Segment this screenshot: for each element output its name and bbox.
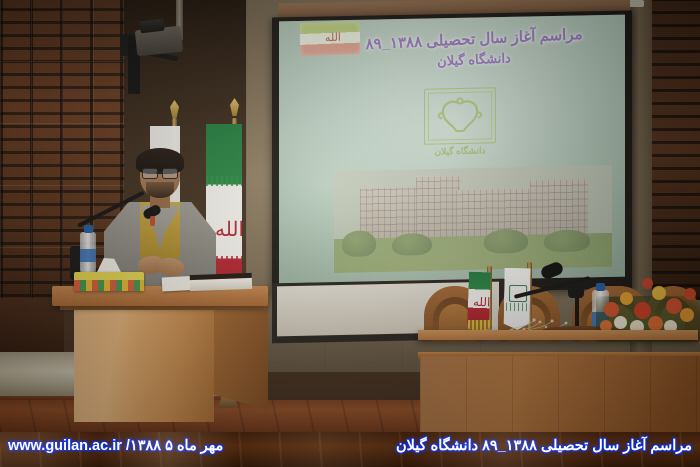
slide-logo-caption: دانشگاه گیلان [410,145,510,158]
photo-color-tint [334,165,612,273]
caption-website-date: www.guilan.ac.ir /۱۳۸۸ مهر ماه ۵ [8,438,223,454]
flower-bloom [684,288,696,300]
tissue-box [74,272,144,291]
microphone-windscreen-accent [150,216,155,226]
wood-slat-panel-lower [0,298,64,360]
lectern-body [74,304,214,422]
flower-bloom [652,286,666,300]
bottle-label [80,249,96,262]
flower-bloom [634,302,651,319]
iran-desk-flag-emblem-icon: الله [473,296,485,308]
speaker-eyeglasses [142,168,178,177]
iran-flag-emblem-icon: الله [325,33,334,42]
lectern-water-bottle [80,232,96,274]
flower-bloom [680,308,694,322]
bottle-cap [84,225,93,233]
slide-campus-photo [334,165,612,273]
flower-bloom [604,302,619,317]
flower-bloom [642,278,653,289]
table-front-panel [420,356,700,432]
photograph-canvas: الله مراسم آغاز سال تحصیلی ۱۳۸۸_۸۹ دانشگ… [0,0,700,467]
slide-university-logo [424,87,496,145]
lectern-book [190,277,252,291]
table-top-rear-edge [418,330,698,340]
wood-slat-panel-right [652,0,700,300]
flower-bloom [614,316,627,329]
flower-bloom [648,316,663,331]
slat-perforation-pattern-right [652,0,700,300]
tissue-box-pattern [74,280,144,291]
table-microphone-joint [568,284,584,298]
speaker-beard [146,182,174,198]
swan-emblem-icon [434,94,486,137]
flower-bloom [620,292,633,305]
caption-bar: www.guilan.ac.ir /۱۳۸۸ مهر ماه ۵ مراسم آ… [0,432,700,467]
caption-event-title: مراسم آغاز سال تحصیلی ۱۳۸۸_۸۹ دانشگاه گی… [396,438,692,454]
lectern-side-panel [214,300,268,410]
